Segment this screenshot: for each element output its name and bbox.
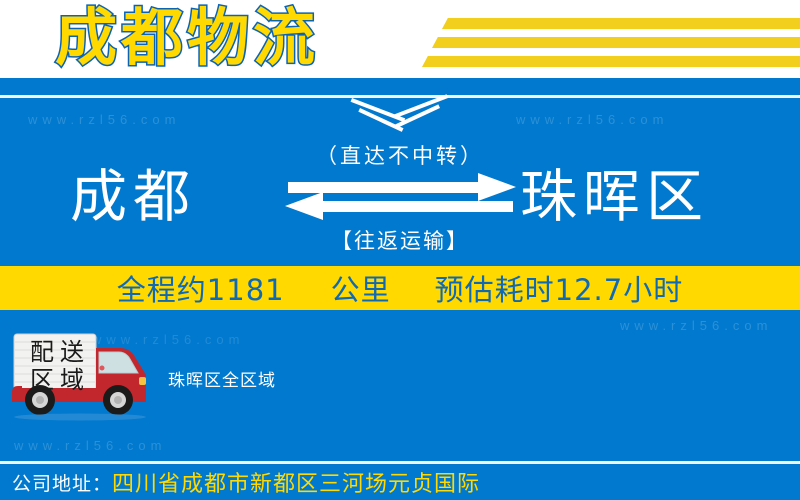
- decorative-stripes: [420, 0, 800, 78]
- page-title: 成都物流: [55, 2, 319, 74]
- origin-city: 成都: [70, 166, 196, 228]
- logistics-poster: 成都物流 www.rzl56.com www.rzl56.com www.rzl…: [0, 0, 800, 500]
- coverage-area-label: 珠晖区全区域: [168, 366, 276, 391]
- watermark: www.rzl56.com: [620, 318, 772, 333]
- footer-bar: 公司地址： 四川省成都市新都区三河场元贞国际: [0, 464, 800, 500]
- stats-band: 全程约1181 公里 预估耗时12.7小时: [0, 266, 800, 310]
- double-chevron-down-icon: [352, 96, 448, 126]
- company-address-label: 公司地址：: [0, 469, 112, 496]
- distance-value: 全程约1181: [117, 267, 285, 309]
- truck-box-char-4: 域: [60, 366, 84, 394]
- duration-value: 预估耗时12.7小时: [435, 267, 684, 309]
- roundtrip-label: 【往返运输】: [0, 225, 800, 255]
- truck-box-char-1: 配: [30, 338, 54, 366]
- truck-box-char-3: 区: [30, 366, 54, 394]
- company-address-value: 四川省成都市新都区三河场元贞国际: [112, 466, 480, 498]
- stripe-1: [442, 18, 800, 29]
- distance-unit: 公里: [331, 267, 391, 309]
- arrow-left-icon: [323, 201, 513, 212]
- stripe-2: [432, 37, 800, 48]
- watermark: www.rzl56.com: [28, 112, 180, 127]
- poster-header: 成都物流: [0, 0, 800, 78]
- destination-city: 珠晖区: [520, 166, 709, 228]
- truck-box-char-2: 送: [60, 338, 84, 366]
- delivery-truck-icon: 配 送 区 域: [8, 330, 156, 422]
- stripe-3: [422, 56, 800, 67]
- watermark: www.rzl56.com: [14, 438, 166, 453]
- bidirectional-arrow-icon: [288, 182, 513, 224]
- watermark: www.rzl56.com: [516, 112, 668, 127]
